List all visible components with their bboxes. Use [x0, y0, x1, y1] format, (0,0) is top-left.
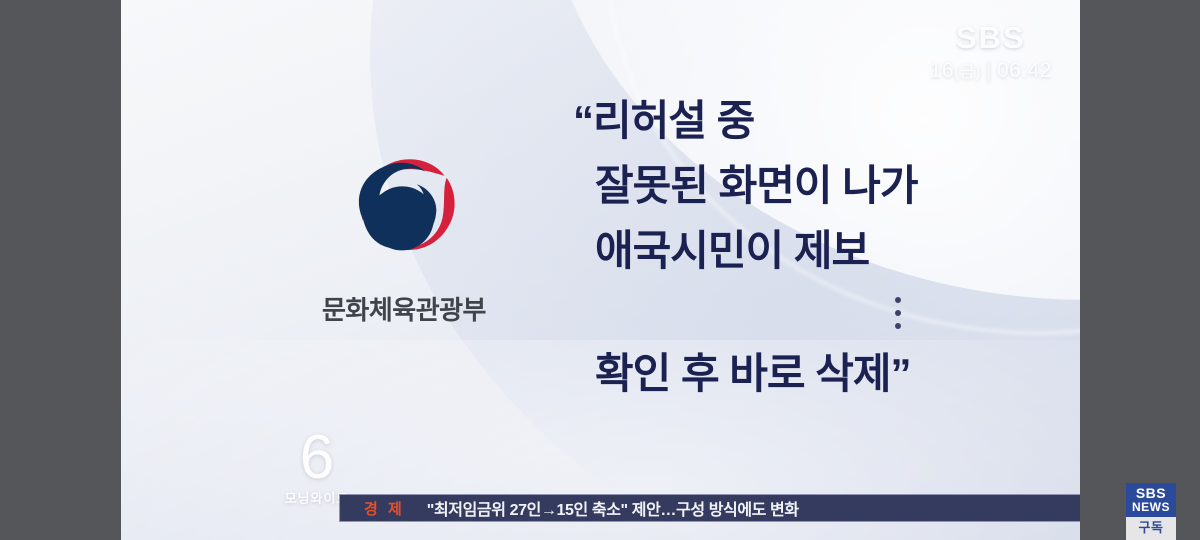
news-ticker: 경 제 "최저임금위 27인→15인 축소" 제안…구성 방식에도 변화 — [339, 494, 1080, 522]
quote-graphic: “리허설 중 잘못된 화면이 나가 애국시민이 제보 확인 후 바로 삭제” — [573, 88, 1043, 406]
on-screen-clock: 16(금)|06:42 — [930, 60, 1052, 81]
letterbox-bar-right — [1080, 0, 1200, 540]
ministry-name-label: 문화체육관광부 — [279, 290, 529, 327]
taegeuk-emblem-icon — [340, 148, 468, 276]
quote-line-1: “리허설 중 — [573, 88, 1043, 153]
subscribe-brand-label: SBS — [1126, 486, 1176, 500]
clock-date: 16 — [930, 59, 954, 82]
broadcast-watermark: SBS 16(금)|06:42 — [930, 22, 1052, 81]
program-number-label: 6 — [265, 430, 369, 486]
subscribe-badge[interactable]: SBS NEWS 구독 — [1126, 483, 1176, 540]
subscribe-section-label: NEWS — [1126, 501, 1176, 513]
letterbox-bar-left — [0, 0, 121, 540]
subscribe-action-label: 구독 — [1139, 520, 1164, 535]
sbs-logo: SBS — [930, 22, 1052, 53]
ministry-emblem-block: 문화체육관광부 — [279, 148, 529, 327]
video-content-area: SBS 16(금)|06:42 문화체육관광부 “리허설 중 잘못된 화면이 나… — [121, 0, 1080, 540]
clock-separator: | — [986, 59, 992, 82]
subscribe-badge-action-block[interactable]: 구독 — [1126, 517, 1176, 540]
clock-day-of-week: (금) — [954, 64, 981, 81]
ticker-category-label: 경 제 — [340, 498, 427, 519]
clock-time: 06:42 — [997, 59, 1052, 82]
vertical-ellipsis-icon — [753, 287, 1043, 339]
tv-news-screen: SBS 16(금)|06:42 문화체육관광부 “리허설 중 잘못된 화면이 나… — [0, 0, 1200, 540]
quote-line-3: 애국시민이 제보 — [595, 218, 1043, 283]
quote-line-2: 잘못된 화면이 나가 — [595, 153, 1043, 218]
quote-line-4: 확인 후 바로 삭제” — [595, 341, 1043, 406]
subscribe-badge-brand-block: SBS NEWS — [1126, 483, 1176, 517]
ticker-headline-text: "최저임금위 27인→15인 축소" 제안…구성 방식에도 변화 — [427, 496, 1080, 520]
